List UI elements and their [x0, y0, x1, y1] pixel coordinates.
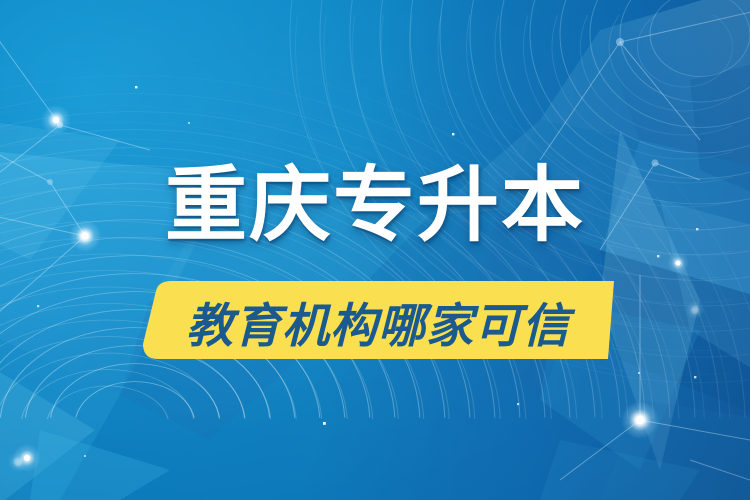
subhead-banner: 教育机构哪家可信	[142, 281, 614, 359]
background-vignette	[0, 0, 750, 500]
subhead-text: 教育机构哪家可信	[142, 282, 614, 360]
promo-banner: 重庆专升本 教育机构哪家可信	[0, 0, 750, 500]
